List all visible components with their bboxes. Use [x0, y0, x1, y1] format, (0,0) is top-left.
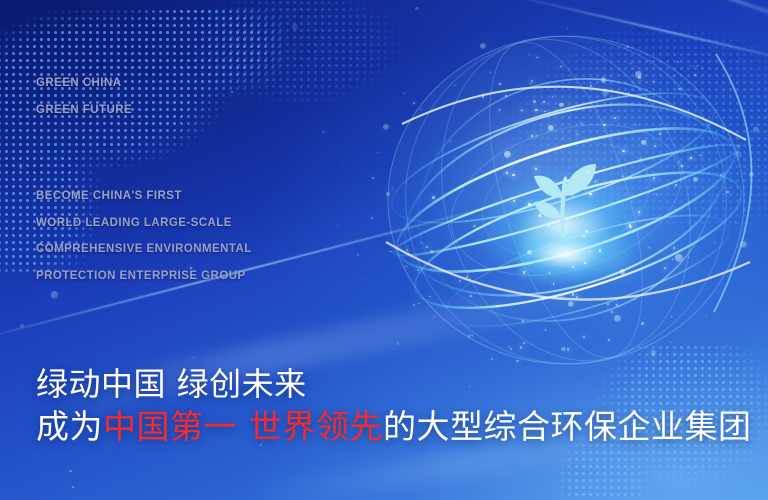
particle [496, 305, 498, 307]
particle [681, 165, 682, 166]
particle [471, 335, 473, 337]
particle [480, 43, 486, 49]
particle [697, 65, 698, 66]
particle [499, 83, 501, 85]
particle [267, 79, 269, 81]
particle [521, 110, 523, 112]
particle [506, 172, 508, 174]
globe-core-glow [474, 168, 654, 288]
particle [193, 357, 194, 358]
particle [535, 168, 537, 170]
particle [545, 329, 547, 331]
particle [431, 269, 433, 271]
particle [529, 54, 530, 55]
particle [726, 345, 727, 346]
particle [572, 195, 573, 196]
particle [535, 134, 539, 138]
particle [539, 214, 542, 217]
globe-halo [368, 16, 768, 380]
particle [509, 346, 510, 347]
particle [700, 155, 702, 157]
headline-line-1: 绿动中国 绿创未来 [36, 364, 752, 405]
particle [559, 103, 564, 108]
particle [362, 278, 363, 279]
particle [638, 211, 640, 213]
particle [744, 210, 745, 211]
particle [672, 259, 673, 260]
particle [426, 246, 428, 248]
particle [20, 324, 24, 328]
particle [406, 249, 408, 251]
particle [516, 360, 518, 362]
english-statement: BECOME CHINA'S FIRST WORLD LEADING LARGE… [36, 183, 252, 289]
particle [690, 157, 692, 159]
particle [549, 272, 550, 273]
particle [527, 250, 532, 255]
particle [649, 60, 650, 61]
particle [535, 109, 537, 111]
particle [553, 227, 555, 229]
particle [590, 85, 593, 88]
particle [434, 316, 435, 317]
particle [656, 194, 657, 195]
particle [531, 80, 534, 83]
particle [536, 57, 538, 59]
particle [585, 230, 589, 234]
particle [577, 134, 578, 135]
particle [528, 203, 531, 206]
particle [599, 249, 601, 251]
particle [397, 342, 399, 344]
particle [337, 225, 338, 226]
particle [583, 235, 585, 237]
particle [635, 124, 636, 125]
particle [678, 88, 680, 90]
particle [544, 111, 546, 113]
particle [20, 166, 22, 168]
particle [608, 339, 610, 341]
particle [421, 242, 422, 243]
particle [675, 254, 683, 262]
particle [392, 188, 394, 190]
particle [404, 93, 405, 94]
particle [629, 224, 631, 226]
particle [693, 177, 698, 182]
statement-line: WORLD LEADING LARGE-SCALE [36, 210, 252, 237]
particle [689, 65, 690, 66]
particle [523, 342, 525, 344]
particle [482, 95, 484, 97]
particle [69, 470, 71, 472]
particle [572, 266, 574, 268]
particle [459, 280, 462, 283]
particle [520, 346, 523, 349]
particle [595, 181, 596, 182]
particle [630, 63, 632, 65]
particle [720, 174, 722, 176]
particle [454, 85, 455, 86]
particle [543, 101, 545, 103]
particle [601, 77, 607, 83]
headline-prefix: 成为 [36, 407, 103, 446]
particle [651, 350, 656, 355]
particle [474, 225, 476, 227]
particle [323, 131, 325, 133]
particle [749, 172, 754, 177]
statement-line: PROTECTION ENTERPRISE GROUP [36, 263, 252, 290]
particle [466, 276, 469, 279]
particle [533, 100, 536, 103]
particle [561, 347, 565, 351]
statement-line: COMPREHENSIVE ENVIRONMENTAL [36, 236, 252, 263]
particle [622, 150, 625, 153]
particle [357, 254, 359, 256]
english-tagline: GREEN CHINA GREEN FUTURE [36, 70, 132, 123]
particle [587, 171, 589, 173]
particle [383, 124, 389, 130]
particle [413, 102, 415, 104]
particle [675, 184, 677, 186]
particle [470, 295, 472, 297]
particle [377, 152, 378, 153]
particle [499, 109, 501, 111]
dotted-world-map-icon [186, 0, 436, 142]
particle [490, 72, 491, 73]
particle [614, 117, 617, 120]
particle [616, 304, 618, 306]
particle [583, 336, 585, 338]
particle [450, 141, 451, 142]
sprout-icon [520, 158, 604, 244]
particle [562, 138, 563, 139]
particle [603, 124, 606, 127]
particle [386, 192, 390, 196]
particle [553, 283, 555, 285]
particle [726, 191, 729, 194]
particle [512, 174, 515, 177]
headline: 绿动中国 绿创未来 成为中国第一世界领先的大型综合环保企业集团 [36, 364, 752, 449]
particle [638, 76, 641, 79]
particle [611, 311, 613, 313]
particle [670, 342, 671, 343]
particle [694, 74, 696, 76]
particle [584, 262, 586, 264]
particle [510, 348, 512, 350]
particle [420, 109, 421, 110]
particle [415, 7, 419, 11]
particle [671, 316, 672, 317]
particle [653, 177, 656, 180]
particle [552, 96, 553, 97]
headline-line-2: 成为中国第一世界领先的大型综合环保企业集团 [36, 405, 752, 449]
particle [659, 133, 661, 135]
particle [430, 250, 434, 254]
particle [292, 24, 298, 30]
particle [51, 291, 58, 298]
dotted-world-map-icon [468, 0, 768, 224]
particle [581, 123, 583, 125]
particle [677, 61, 679, 63]
particle [649, 247, 650, 248]
particle [629, 226, 632, 229]
headline-suffix: 的大型综合环保企业集团 [383, 407, 752, 446]
particle [678, 162, 679, 163]
wireframe-globe-icon [378, 28, 768, 368]
particle [660, 250, 661, 251]
particle [620, 269, 626, 275]
particle [371, 217, 373, 219]
particle [589, 251, 590, 252]
particle [753, 127, 759, 133]
particle [417, 269, 420, 272]
particle [567, 28, 568, 29]
particle [735, 151, 742, 158]
particle [641, 140, 647, 146]
particle [468, 335, 470, 337]
light-streak [504, 0, 768, 69]
particle [714, 242, 715, 243]
particle [568, 301, 575, 308]
particle [530, 83, 531, 84]
tagline-line: GREEN FUTURE [36, 97, 132, 124]
particle [602, 89, 609, 96]
particle [607, 303, 609, 305]
particle [653, 81, 655, 83]
particle [513, 200, 515, 202]
particle [413, 304, 415, 306]
particle [739, 199, 740, 200]
light-streak [441, 0, 768, 37]
particle [504, 151, 511, 158]
particle [342, 162, 343, 163]
particle [390, 251, 392, 253]
particle [548, 225, 550, 227]
particle [706, 315, 708, 317]
statement-line: BECOME CHINA'S FIRST [36, 183, 252, 210]
particle [429, 296, 431, 298]
particle [688, 257, 689, 258]
particle [372, 177, 374, 179]
particle [572, 293, 574, 295]
particle [582, 259, 583, 260]
particle [673, 247, 675, 249]
headline-highlight-world-leading: 世界领先 [249, 407, 383, 446]
particle [693, 66, 694, 67]
particle [454, 156, 455, 157]
particle [655, 145, 657, 147]
particle [634, 299, 635, 300]
particle [405, 266, 407, 268]
particle [522, 320, 524, 322]
particle [640, 158, 641, 159]
hero-banner: GREEN CHINA GREEN FUTURE BECOME CHINA'S … [0, 0, 768, 500]
particle [641, 322, 644, 325]
particle [652, 354, 655, 357]
particle [664, 267, 666, 269]
particle [740, 241, 747, 248]
particle [614, 315, 621, 322]
particle [560, 66, 562, 68]
headline-highlight-china-first: 中国第一 [103, 407, 237, 446]
particle [635, 71, 642, 78]
particle [418, 303, 420, 305]
particle [523, 271, 526, 274]
particle [72, 486, 74, 488]
particle [622, 176, 623, 177]
particle [690, 157, 692, 159]
particle [491, 358, 494, 361]
particle [589, 193, 591, 195]
particle [531, 135, 533, 137]
particle [735, 222, 736, 223]
tagline-line: GREEN CHINA [36, 70, 132, 97]
particle [673, 76, 674, 77]
sprout-glow-burst [520, 222, 640, 284]
globe-rings [378, 28, 768, 368]
particle [576, 296, 578, 298]
particle [627, 46, 629, 48]
particle [548, 125, 554, 131]
particle [628, 92, 629, 93]
particle [505, 95, 507, 97]
particle [567, 348, 570, 351]
particle [231, 91, 233, 93]
particle [558, 294, 565, 301]
particle [738, 145, 740, 147]
particle [432, 196, 435, 199]
